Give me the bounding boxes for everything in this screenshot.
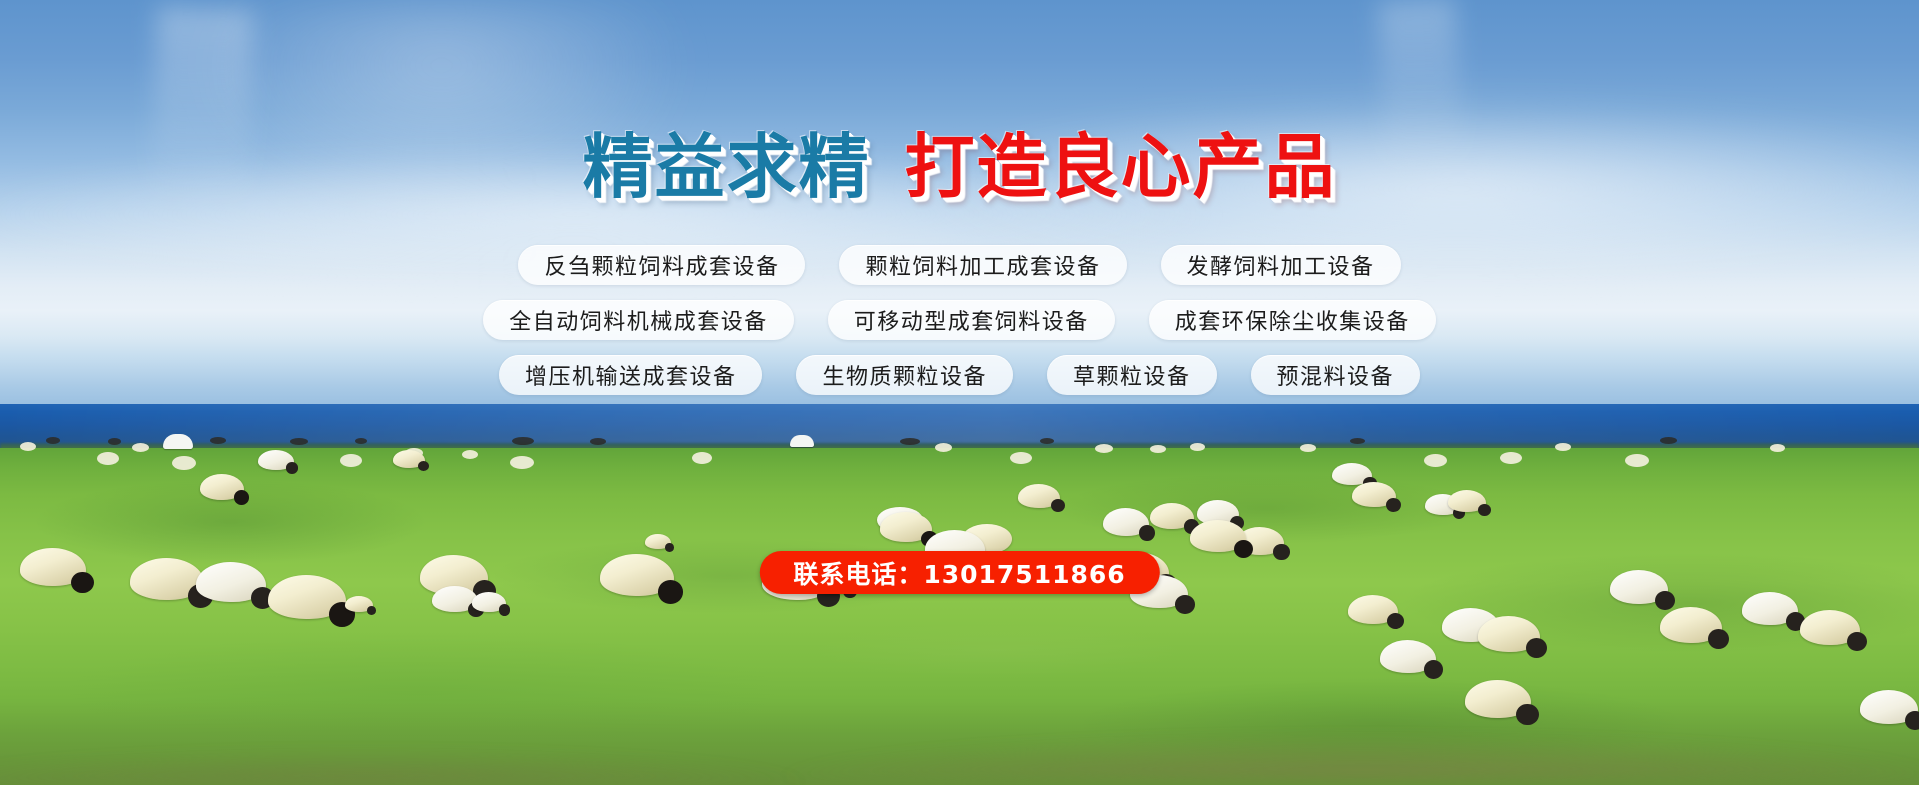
dirt-ridge-right	[768, 733, 1919, 779]
product-pill-pellet-feed-processing-line[interactable]: 颗粒饲料加工成套设备	[839, 245, 1126, 285]
sheep	[1348, 595, 1398, 624]
distant-sheep	[935, 443, 952, 452]
product-category-list: 反刍颗粒饲料成套设备 颗粒饲料加工成套设备 发酵饲料加工设备 全自动饲料机械成套…	[0, 245, 1919, 395]
sheep	[1742, 592, 1798, 625]
sheep	[1660, 607, 1722, 643]
sheep	[1380, 640, 1436, 673]
distant-animal	[900, 438, 920, 445]
sheep	[1424, 454, 1447, 467]
distant-animal	[210, 437, 226, 444]
distant-animal	[512, 437, 534, 445]
sheep	[130, 558, 204, 600]
distant-sheep	[20, 442, 36, 451]
product-category-row-2: 全自动饲料机械成套设备 可移动型成套饲料设备 成套环保除尘收集设备	[483, 300, 1436, 340]
product-pill-biomass-pellet-equipment[interactable]: 生物质颗粒设备	[796, 355, 1013, 395]
yurt	[790, 435, 814, 447]
sheep	[1103, 508, 1149, 536]
sheep	[1625, 454, 1649, 467]
sheep	[20, 548, 86, 586]
sheep	[645, 534, 671, 549]
distant-animal	[108, 438, 121, 445]
headline-part-1: 精益求精	[583, 126, 871, 208]
distant-animal	[1350, 438, 1365, 444]
product-pill-booster-conveying-line[interactable]: 增压机输送成套设备	[499, 355, 763, 395]
headline-part-2: 打造良心产品	[905, 126, 1337, 208]
sheep	[432, 586, 478, 612]
contact-phone-banner[interactable]: 联系电话：13017511866	[759, 551, 1159, 594]
sheep	[97, 452, 119, 465]
product-pill-automatic-feed-machinery-line[interactable]: 全自动饲料机械成套设备	[483, 300, 794, 340]
distant-animal	[1040, 438, 1054, 444]
sheep	[393, 450, 425, 468]
sheep	[172, 456, 196, 470]
sheep	[200, 474, 244, 500]
distant-animal	[590, 438, 606, 445]
sheep	[600, 554, 674, 596]
distant-sheep	[1300, 444, 1316, 452]
sheep	[1465, 680, 1531, 718]
sheep	[692, 452, 712, 464]
distant-sheep	[1770, 444, 1785, 452]
sheep	[1190, 520, 1246, 552]
sheep	[1478, 616, 1540, 652]
sheep	[1610, 570, 1668, 604]
sheep	[510, 456, 534, 469]
product-pill-mobile-feed-line[interactable]: 可移动型成套饲料设备	[828, 300, 1115, 340]
distant-sheep	[1150, 445, 1166, 453]
dirt-ridge-left	[0, 751, 806, 785]
product-pill-grass-pellet-equipment[interactable]: 草颗粒设备	[1047, 355, 1217, 395]
product-pill-ruminant-pellet-feed-line[interactable]: 反刍颗粒饲料成套设备	[518, 245, 805, 285]
product-pill-dust-collection-line[interactable]: 成套环保除尘收集设备	[1149, 300, 1436, 340]
distant-sheep	[1095, 444, 1113, 453]
sheep	[880, 512, 932, 542]
sheep	[1800, 610, 1860, 645]
product-category-row-3: 增压机输送成套设备 生物质颗粒设备 草颗粒设备 预混料设备	[499, 355, 1420, 395]
sheep	[1352, 482, 1396, 507]
product-category-row-1: 反刍颗粒饲料成套设备 颗粒饲料加工成套设备 发酵饲料加工设备	[518, 245, 1400, 285]
sheep	[1018, 484, 1060, 508]
distant-animal	[355, 438, 367, 444]
product-pill-premix-equipment[interactable]: 预混料设备	[1251, 355, 1421, 395]
product-pill-fermented-feed-processing[interactable]: 发酵饲料加工设备	[1161, 245, 1401, 285]
sheep	[1150, 503, 1194, 529]
distant-animal	[46, 437, 60, 444]
distant-sheep	[462, 450, 478, 459]
distant-sheep	[1190, 443, 1205, 451]
sheep	[1500, 452, 1522, 464]
sheep	[472, 592, 506, 612]
sheep	[258, 450, 294, 470]
sheep	[268, 575, 346, 619]
sheep	[340, 454, 362, 467]
distant-animal	[290, 438, 308, 445]
distant-sheep	[132, 443, 149, 452]
distant-sheep	[1555, 443, 1571, 451]
sheep	[196, 562, 266, 602]
page-title: 精益求精打造良心产品	[0, 132, 1919, 202]
sheep	[1010, 452, 1032, 464]
yurt	[163, 434, 193, 449]
sheep	[1448, 490, 1486, 512]
sheep	[1860, 690, 1918, 724]
distant-animal	[1660, 437, 1677, 444]
sheep	[345, 596, 373, 612]
hero-banner: 精益求精打造良心产品 反刍颗粒饲料成套设备 颗粒饲料加工成套设备 发酵饲料加工设…	[0, 0, 1919, 785]
